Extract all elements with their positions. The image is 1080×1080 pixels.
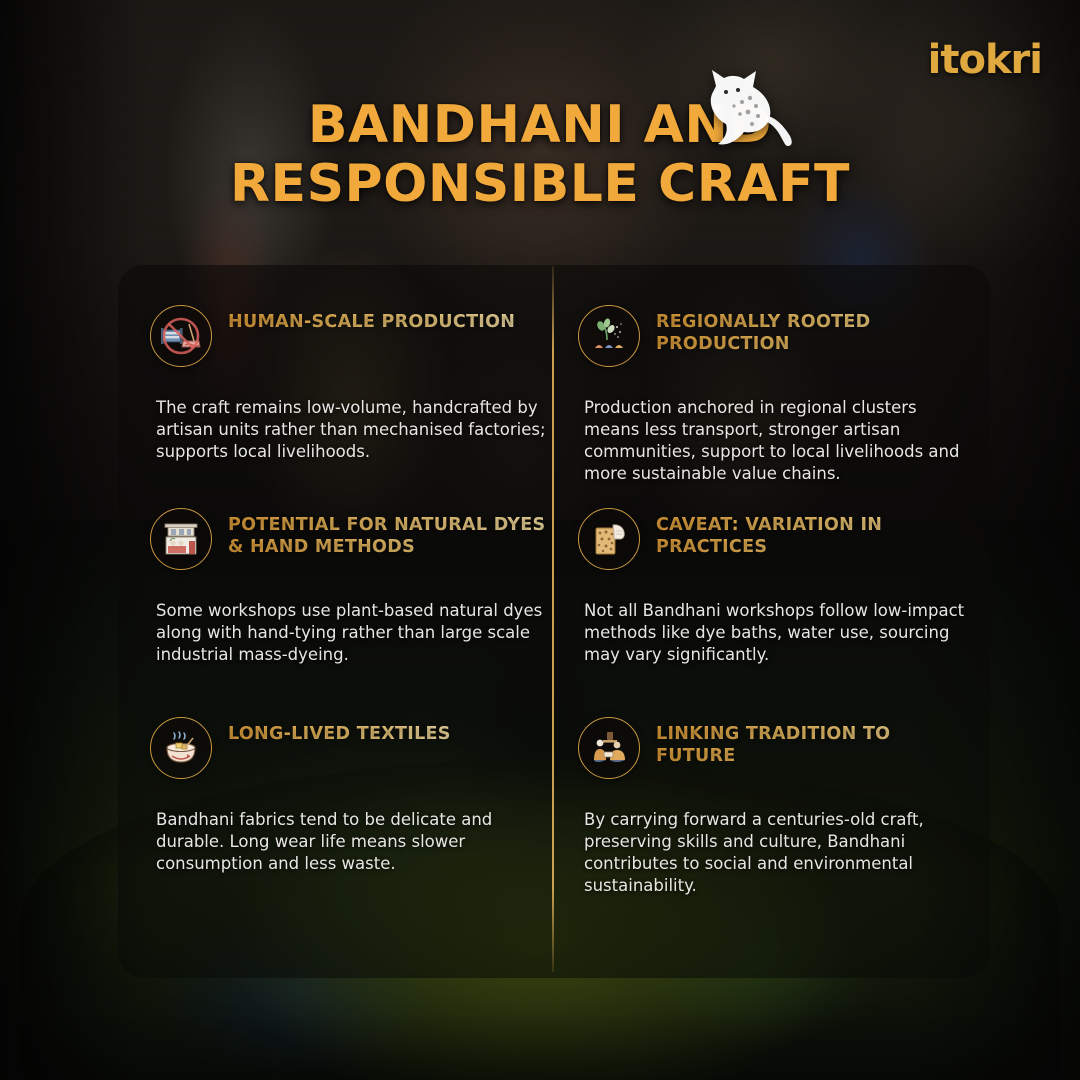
title-line-2: RESPONSIBLE CRAFT	[230, 154, 850, 214]
card-regionally-rooted-production: REGIONALLY ROOTED PRODUCTION Production …	[578, 305, 978, 485]
card-long-lived-textiles: LONG-LIVED TEXTILES Bandhani fabrics ten…	[150, 717, 550, 875]
card-title: LONG-LIVED TEXTILES	[228, 717, 451, 745]
card-body: Some workshops use plant-based natural d…	[156, 600, 548, 666]
card-header: LONG-LIVED TEXTILES	[150, 717, 550, 779]
card-body: By carrying forward a centuries-old craf…	[584, 809, 976, 897]
card-body: The craft remains low-volume, handcrafte…	[156, 397, 548, 463]
card-body: Production anchored in regional clusters…	[584, 397, 976, 485]
seedling-soil-icon	[578, 305, 640, 367]
two-artisans-icon	[578, 717, 640, 779]
card-human-scale-production: HUMAN-SCALE PRODUCTION The craft remains…	[150, 305, 550, 463]
no-factory-icon	[150, 305, 212, 367]
card-caveat-variation-in-practices: CAVEAT: VARIATION IN PRACTICES Not all B…	[578, 508, 978, 666]
card-body: Bandhani fabrics tend to be delicate and…	[156, 809, 548, 875]
infographic-poster: itokri BANDHANI AND RESPONSIBLE CRAFT	[0, 0, 1080, 1080]
card-body: Not all Bandhani workshops follow low-im…	[584, 600, 976, 666]
card-title: HUMAN-SCALE PRODUCTION	[228, 305, 515, 333]
card-linking-tradition-to-future: LINKING TRADITION TO FUTURE By carrying …	[578, 717, 978, 897]
card-natural-dyes-hand-methods: POTENTIAL FOR NATURAL DYES & HAND METHOD…	[150, 508, 550, 666]
workshop-building-icon	[150, 508, 212, 570]
dye-pot-steam-icon	[150, 717, 212, 779]
card-title: CAVEAT: VARIATION IN PRACTICES	[656, 508, 974, 559]
cards-grid: HUMAN-SCALE PRODUCTION The craft remains…	[118, 265, 990, 978]
card-header: CAVEAT: VARIATION IN PRACTICES	[578, 508, 978, 570]
hand-holding-fabric-icon	[578, 508, 640, 570]
card-title: LINKING TRADITION TO FUTURE	[656, 717, 974, 768]
brand-logo: itokri	[928, 40, 1042, 80]
card-header: HUMAN-SCALE PRODUCTION	[150, 305, 550, 367]
card-header: REGIONALLY ROOTED PRODUCTION	[578, 305, 978, 367]
card-title: REGIONALLY ROOTED PRODUCTION	[656, 305, 974, 356]
white-cat-icon	[690, 56, 800, 152]
card-header: POTENTIAL FOR NATURAL DYES & HAND METHOD…	[150, 508, 550, 570]
card-title: POTENTIAL FOR NATURAL DYES & HAND METHOD…	[228, 508, 546, 559]
page-title: BANDHANI AND RESPONSIBLE CRAFT	[0, 96, 1080, 215]
card-header: LINKING TRADITION TO FUTURE	[578, 717, 978, 779]
